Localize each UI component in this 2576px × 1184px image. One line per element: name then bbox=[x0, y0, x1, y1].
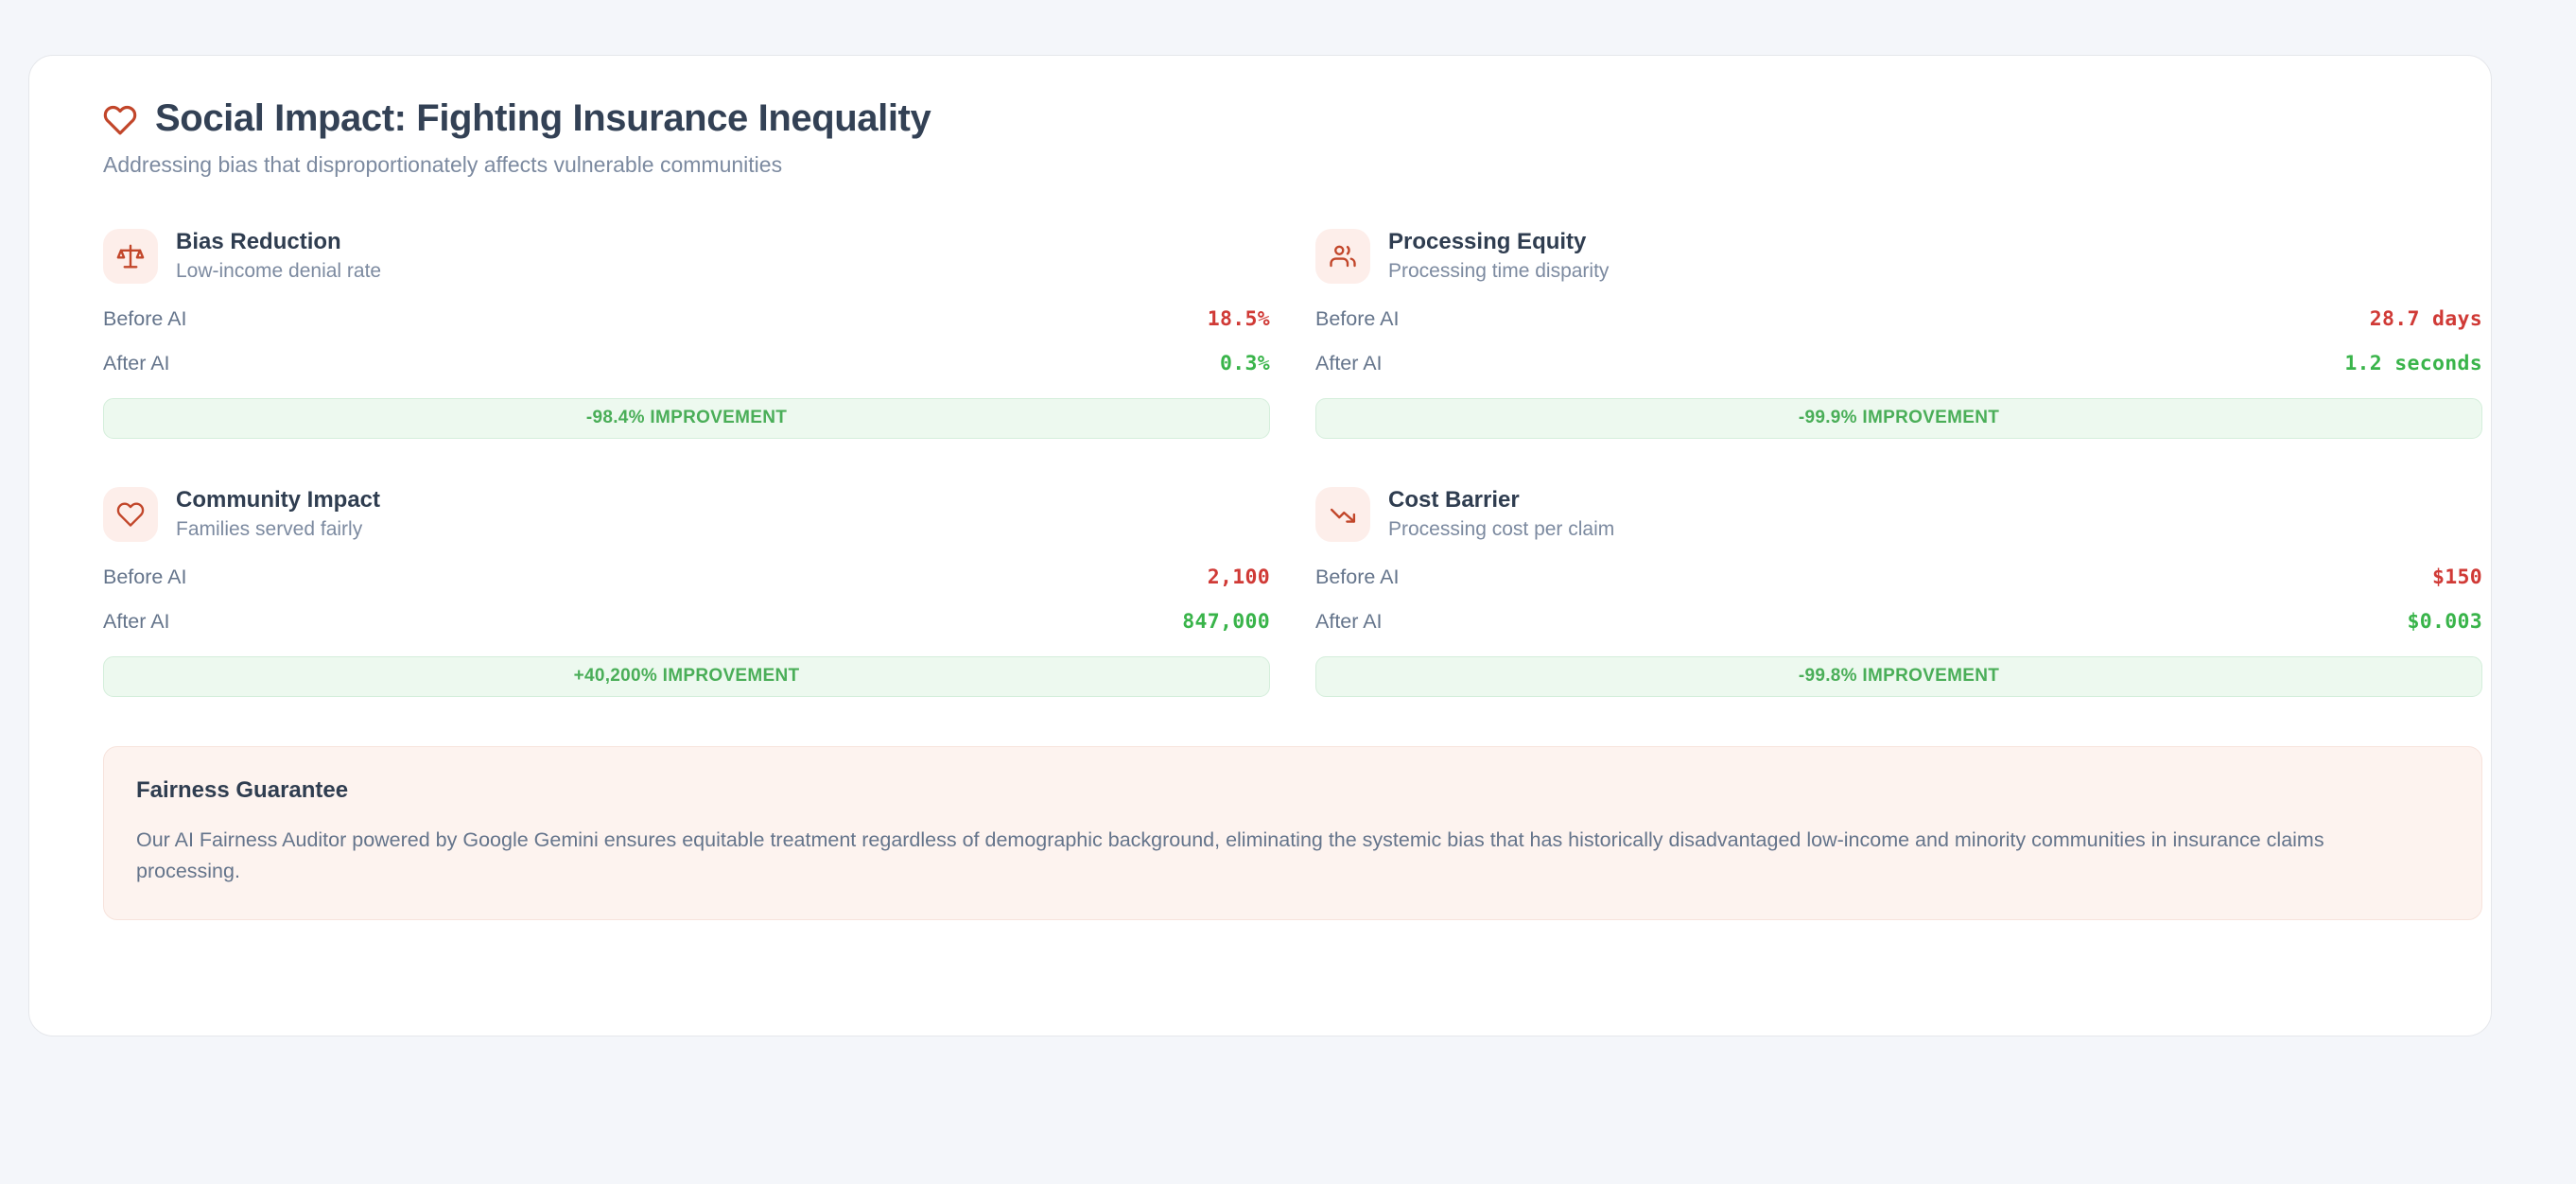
metric-before-value: 28.7 days bbox=[2370, 307, 2482, 331]
metric-card-processing-equity: Processing Equity Processing time dispar… bbox=[1315, 226, 2482, 439]
metric-description: Processing cost per claim bbox=[1388, 518, 1614, 540]
fairness-guarantee-box: Fairness Guarantee Our AI Fairness Audit… bbox=[103, 746, 2482, 921]
metric-row-after: After AI 0.3% bbox=[103, 352, 1270, 375]
improvement-badge: +40,200% IMPROVEMENT bbox=[103, 656, 1270, 697]
fairness-guarantee-text: Our AI Fairness Auditor powered by Googl… bbox=[136, 825, 2425, 888]
metric-header: Processing Equity Processing time dispar… bbox=[1315, 226, 2482, 287]
metric-before-value: 18.5% bbox=[1208, 307, 1270, 331]
metric-before-label: Before AI bbox=[103, 307, 186, 331]
metric-after-value: $0.003 bbox=[2408, 610, 2482, 634]
heart-icon bbox=[103, 487, 158, 542]
fairness-guarantee-title: Fairness Guarantee bbox=[136, 777, 2449, 804]
panel-header: Social Impact: Fighting Insurance Inequa… bbox=[103, 99, 2445, 137]
metric-before-label: Before AI bbox=[1315, 566, 1399, 589]
heart-icon bbox=[103, 99, 137, 137]
metric-after-value: 847,000 bbox=[1182, 610, 1270, 634]
metric-grid: Bias Reduction Low-income denial rate Be… bbox=[103, 226, 2445, 697]
page-title: Social Impact: Fighting Insurance Inequa… bbox=[155, 99, 931, 137]
metric-row-before: Before AI 2,100 bbox=[103, 566, 1270, 589]
metric-row-after: After AI 1.2 seconds bbox=[1315, 352, 2482, 375]
improvement-badge: -99.8% IMPROVEMENT bbox=[1315, 656, 2482, 697]
metric-row-after: After AI 847,000 bbox=[103, 610, 1270, 634]
metric-before-value: 2,100 bbox=[1208, 566, 1270, 589]
panel-subtitle: Addressing bias that disproportionately … bbox=[103, 152, 2445, 179]
metric-row-before: Before AI $150 bbox=[1315, 566, 2482, 589]
metric-row-before: Before AI 28.7 days bbox=[1315, 307, 2482, 331]
metric-after-value: 0.3% bbox=[1220, 352, 1270, 375]
metric-header: Bias Reduction Low-income denial rate bbox=[103, 226, 1270, 287]
metric-description: Processing time disparity bbox=[1388, 260, 1609, 282]
metric-after-label: After AI bbox=[103, 352, 170, 375]
metric-before-value: $150 bbox=[2432, 566, 2482, 589]
improvement-badge: -99.9% IMPROVEMENT bbox=[1315, 398, 2482, 439]
metric-after-label: After AI bbox=[1315, 610, 1383, 634]
metric-before-label: Before AI bbox=[1315, 307, 1399, 331]
metric-header: Cost Barrier Processing cost per claim bbox=[1315, 484, 2482, 545]
metric-row-before: Before AI 18.5% bbox=[103, 307, 1270, 331]
metric-after-value: 1.2 seconds bbox=[2344, 352, 2482, 375]
metric-card-bias-reduction: Bias Reduction Low-income denial rate Be… bbox=[103, 226, 1270, 439]
social-impact-panel: Social Impact: Fighting Insurance Inequa… bbox=[28, 55, 2492, 1036]
metric-title: Processing Equity bbox=[1388, 230, 1609, 254]
metric-after-label: After AI bbox=[1315, 352, 1383, 375]
metric-title: Bias Reduction bbox=[176, 230, 381, 254]
users-icon bbox=[1315, 229, 1370, 284]
metric-title: Community Impact bbox=[176, 488, 380, 513]
metric-row-after: After AI $0.003 bbox=[1315, 610, 2482, 634]
metric-header: Community Impact Families served fairly bbox=[103, 484, 1270, 545]
metric-after-label: After AI bbox=[103, 610, 170, 634]
metric-description: Families served fairly bbox=[176, 518, 380, 540]
metric-card-cost-barrier: Cost Barrier Processing cost per claim B… bbox=[1315, 484, 2482, 697]
improvement-badge: -98.4% IMPROVEMENT bbox=[103, 398, 1270, 439]
metric-title: Cost Barrier bbox=[1388, 488, 1614, 513]
metric-card-community-impact: Community Impact Families served fairly … bbox=[103, 484, 1270, 697]
metric-description: Low-income denial rate bbox=[176, 260, 381, 282]
metric-before-label: Before AI bbox=[103, 566, 186, 589]
trending-down-icon bbox=[1315, 487, 1370, 542]
scales-of-justice-icon bbox=[103, 229, 158, 284]
